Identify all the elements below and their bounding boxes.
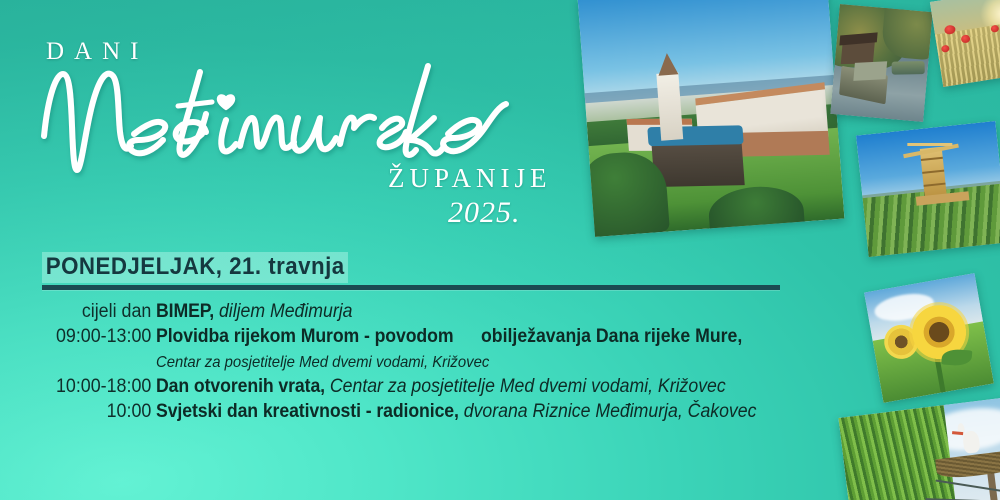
event-title: Svjetski dan kreativnosti - radionice,	[156, 401, 459, 422]
castle-tower	[656, 72, 683, 141]
schedule-section: PONEDJELJAK, 21. travnja cijeli dan BIME…	[0, 252, 830, 424]
event-time: cijeli dan	[5, 299, 152, 324]
event-place: diljem Međimurja	[219, 301, 353, 322]
day-heading-wrap: PONEDJELJAK, 21. travnja	[42, 252, 780, 283]
day-heading-rule	[42, 285, 780, 290]
event-time: 10:00-18:00	[5, 374, 152, 399]
vineyard-lookout-tower-photo	[856, 121, 1000, 257]
event-title-line2: obilježavanja Dana rijeke Mure,	[481, 324, 742, 349]
sunflower-photo	[864, 273, 994, 403]
event-title: Dan otvorenih vrata,	[156, 376, 325, 397]
brand-title-block: DANI	[0, 0, 600, 250]
castle-wall	[738, 131, 830, 157]
day-heading: PONEDJELJAK, 21. travnja	[42, 252, 348, 283]
stork-nest-photo	[838, 395, 1000, 500]
event-time: 09:00-13:00	[5, 324, 152, 374]
tower-crossbeam-top	[908, 143, 953, 146]
table-row: 10:00 Svjetski dan kreativnosti - radion…	[0, 399, 830, 424]
event-description: Svjetski dan kreativnosti - radionice, d…	[156, 399, 830, 424]
table-row: cijeli dan BIMEP, diljem Međimurja	[0, 299, 830, 324]
willow-branches	[838, 405, 958, 500]
table-row: 09:00-13:00 Plovidba rijekom Murom - pov…	[0, 324, 830, 374]
event-poster: DANI	[0, 0, 1000, 500]
castle-spire	[657, 53, 679, 76]
event-description: Plovidba rijekom Murom - povodom obiljež…	[156, 324, 830, 374]
brand-line-zupanije: ŽUPANIJE	[388, 163, 552, 194]
mill-raft-upper	[854, 61, 887, 80]
event-description: Dan otvorenih vrata, Centar za posjetite…	[156, 374, 830, 399]
table-row: 10:00-18:00 Dan otvorenih vrata, Centar …	[0, 374, 830, 399]
event-place: Centar za posjetitelje Med dvemi vodami,…	[330, 376, 726, 397]
boat	[891, 61, 925, 75]
stork-beak	[952, 431, 963, 435]
event-title: Plovidba rijekom Murom - povodom	[156, 326, 453, 347]
castle-aerial-photo	[578, 0, 845, 237]
brand-script-medimurske	[30, 48, 590, 178]
event-venue: Centar za posjetitelje Med dvemi vodami,…	[156, 352, 489, 374]
event-time: 10:00	[5, 399, 152, 424]
events-table: cijeli dan BIMEP, diljem Međimurja 09:00…	[0, 299, 830, 424]
brand-year: 2025.	[448, 196, 521, 230]
event-place: dvorana Riznice Međimurja, Čakovec	[464, 401, 757, 422]
mill-hut	[840, 42, 874, 64]
event-description: BIMEP, diljem Međimurja	[156, 299, 830, 324]
watermill-river-photo	[830, 4, 932, 122]
event-title: BIMEP,	[156, 301, 214, 322]
poppy-wheat-field-photo	[930, 0, 1000, 87]
